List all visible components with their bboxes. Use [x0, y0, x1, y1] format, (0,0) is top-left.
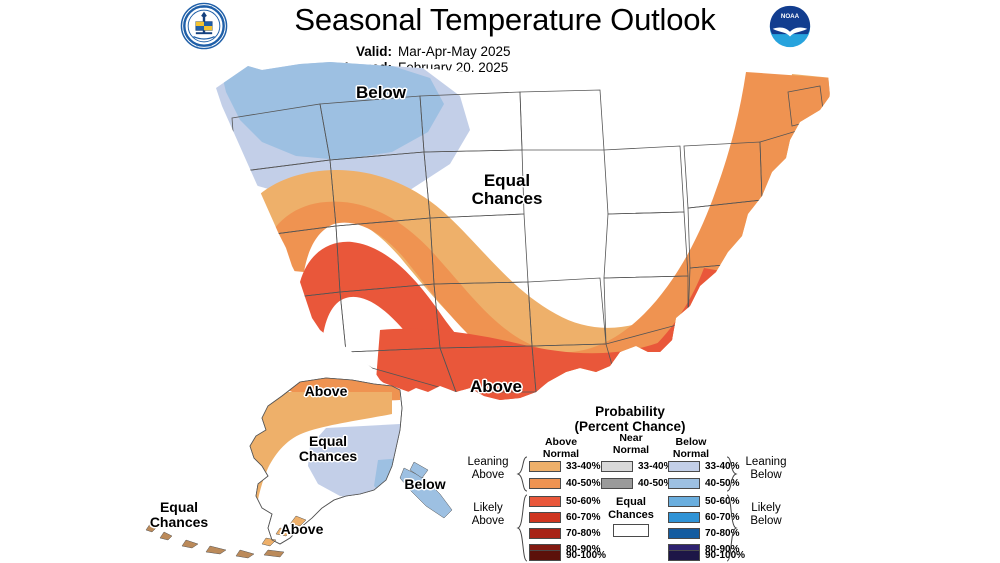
alaska-panhandle-islands [400, 462, 452, 518]
swatch-near-40-50[interactable] [601, 478, 633, 489]
legend-leaning-below-label: Leaning Below [733, 456, 799, 482]
swatch-above-40-50[interactable] [529, 478, 561, 489]
swatch-below-50-60[interactable] [668, 496, 700, 507]
swatch-below-33-40[interactable] [668, 461, 700, 472]
legend-likely-below-label: Likely Below [733, 502, 799, 528]
swatch-equal-chances[interactable] [613, 524, 649, 537]
swatch-above-90-100[interactable] [529, 550, 561, 561]
swatch-above-60-70[interactable] [529, 512, 561, 523]
swatch-near-33-40[interactable] [601, 461, 633, 472]
legend-title: Probability (Percent Chance) [515, 404, 745, 434]
legend-title-line1: Probability [595, 404, 665, 419]
swatch-below-90-100[interactable] [668, 550, 700, 561]
legend-equal-chances-label: Equal Chances [595, 496, 667, 521]
swatch-below-60-70[interactable] [668, 512, 700, 523]
swatch-label-above-33-40: 33-40% [566, 461, 600, 472]
probability-legend: Probability (Percent Chance) Above Norma… [455, 404, 800, 563]
legend-likely-above-label: Likely Above [457, 502, 519, 528]
legend-col-below-normal: Below Normal [655, 437, 727, 460]
alaska-inset [242, 372, 452, 546]
swatch-label-above-40-50: 40-50% [566, 478, 600, 489]
legend-leaning-above-label: Leaning Above [457, 456, 519, 482]
swatch-above-70-80[interactable] [529, 528, 561, 539]
swatch-label-above-70-80: 70-80% [566, 528, 600, 539]
seasonal-temperature-outlook-map: U.S. DEPT OF COMMERCE NOAA Seasonal Temp… [0, 0, 1000, 563]
swatch-above-50-60[interactable] [529, 496, 561, 507]
swatch-below-40-50[interactable] [668, 478, 700, 489]
swatch-below-70-80[interactable] [668, 528, 700, 539]
legend-col-above-normal: Above Normal [525, 437, 597, 460]
hawaii-inset [146, 524, 284, 558]
swatch-label-above-90-100: 90-100% [566, 550, 606, 561]
swatch-above-33-40[interactable] [529, 461, 561, 472]
